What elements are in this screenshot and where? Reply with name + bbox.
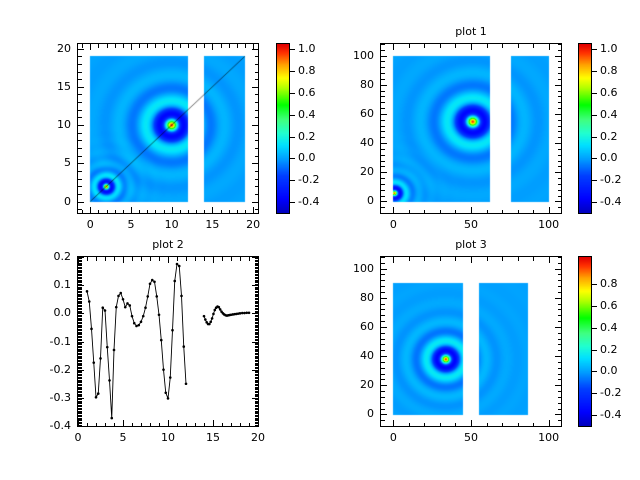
plot3-colorbar-tick <box>592 284 597 285</box>
xtick-minor <box>168 420 169 426</box>
ytick <box>78 56 82 57</box>
xtick-minor-top <box>502 257 503 261</box>
xtick-minor-top <box>159 257 160 261</box>
ytick-right <box>252 87 258 88</box>
plot3-colorbar-tick <box>592 371 597 372</box>
plot3-yticklabel: 20 <box>320 379 374 390</box>
ytick-right <box>252 313 258 314</box>
plot2-xticklabel: 5 <box>98 432 148 443</box>
ytick-right <box>255 301 259 302</box>
ytick-right <box>558 420 562 421</box>
ytick <box>78 382 82 383</box>
plot1-colorbar-ticklabel: 0.6 <box>600 87 618 98</box>
ytick <box>78 305 82 306</box>
ytick-right <box>255 361 259 362</box>
ytick-right <box>255 392 259 393</box>
ytick <box>78 425 82 426</box>
ytick-right <box>255 258 259 259</box>
ytick-right <box>255 267 259 268</box>
plot2-xticklabel: 10 <box>143 432 193 443</box>
plot2-marker <box>142 315 145 318</box>
ytick <box>78 140 82 141</box>
ytick-right <box>255 416 259 417</box>
ytick <box>78 344 82 345</box>
ytick-right <box>252 257 258 258</box>
ytick <box>78 280 82 281</box>
ytick <box>381 286 385 287</box>
xtick-minor <box>249 423 250 427</box>
xtick-minor <box>204 210 205 214</box>
ytick <box>381 149 385 150</box>
plot1-xticklabel: 0 <box>368 219 418 230</box>
ytick-right <box>255 280 259 281</box>
xtick-minor <box>164 210 165 214</box>
ytick-right <box>255 322 259 323</box>
plot1-colorbar-tick <box>592 202 597 203</box>
plot1-yticklabel: 20 <box>320 166 374 177</box>
plot2-yticklabel: 0.0 <box>17 307 71 318</box>
xtick-minor <box>195 423 196 427</box>
ytick-right <box>255 94 259 95</box>
ytick-right <box>558 292 562 293</box>
ytick-right <box>255 354 259 355</box>
plot2-marker <box>86 290 89 293</box>
ytick <box>381 91 385 92</box>
ytick <box>78 385 82 386</box>
ytick <box>381 356 387 357</box>
ytick-right <box>255 179 259 180</box>
xtick-minor <box>409 423 410 427</box>
plot3-colorbar-ticklabel: 0.4 <box>600 322 618 333</box>
plot3-colorbar-tick <box>592 415 597 416</box>
xtick-minor <box>471 420 472 426</box>
ytick <box>381 50 385 51</box>
ytick-right <box>252 202 258 203</box>
ytick-right <box>255 140 259 141</box>
ytick-right <box>255 289 259 290</box>
ytick <box>78 268 82 269</box>
xtick-minor-top <box>440 44 441 48</box>
ytick <box>78 401 82 402</box>
ytick <box>78 342 84 343</box>
xtick-minor-top <box>213 257 214 263</box>
ytick <box>78 346 82 347</box>
ytick <box>381 201 387 202</box>
xtick-minor-top <box>172 44 173 50</box>
xtick-minor-top <box>240 257 241 261</box>
plot2-marker <box>185 382 188 385</box>
ytick-right <box>255 277 259 278</box>
xtick-minor <box>440 423 441 427</box>
ytick <box>78 303 82 304</box>
ytick-right <box>255 316 259 317</box>
ytick-right <box>558 257 562 258</box>
plot2-yticklabel: -0.3 <box>17 392 71 403</box>
ytick-right <box>255 302 259 303</box>
ytick-right <box>255 330 259 331</box>
ytick-right <box>255 363 259 364</box>
plot1-xticklabel: 50 <box>446 219 496 230</box>
ytick-right <box>255 102 259 103</box>
ytick-right <box>255 337 259 338</box>
xtick-minor <box>204 423 205 427</box>
plot2-xticklabel: 15 <box>188 432 238 443</box>
xtick-minor-top <box>177 257 178 261</box>
plot1-yticklabel: 0 <box>320 195 374 206</box>
ytick-right <box>255 292 259 293</box>
ytick-right <box>558 333 562 334</box>
ytick <box>381 143 387 144</box>
plot2-marker <box>151 279 154 282</box>
plot0-colorbar-tick <box>290 158 295 159</box>
ytick-right <box>255 408 259 409</box>
ytick <box>78 281 82 282</box>
xtick-minor-top <box>249 257 250 261</box>
ytick <box>381 79 385 80</box>
ytick-right <box>558 339 562 340</box>
plot0-colorbar-tick <box>290 180 295 181</box>
ytick-right <box>255 347 259 348</box>
xtick-minor-top <box>393 44 394 50</box>
xtick-minor-top <box>424 44 425 48</box>
ytick <box>381 114 387 115</box>
plot2-marker <box>209 320 212 323</box>
ytick <box>78 356 82 357</box>
ytick <box>381 374 385 375</box>
xtick-minor-top <box>471 44 472 50</box>
ytick-right <box>255 381 259 382</box>
ytick-right <box>558 131 562 132</box>
plot1-colorbar-ticklabel: 0.8 <box>600 65 618 76</box>
ytick-right <box>255 380 259 381</box>
ytick <box>78 308 82 309</box>
ytick-right <box>255 329 259 330</box>
ytick-right <box>255 406 259 407</box>
ytick <box>78 302 82 303</box>
ytick <box>78 349 82 350</box>
plot1-colorbar-tick <box>592 115 597 116</box>
ytick-right <box>558 213 562 214</box>
plot3-colorbar-tick <box>592 393 597 394</box>
ytick-right <box>252 342 258 343</box>
ytick-right <box>558 391 562 392</box>
ytick <box>78 426 84 427</box>
ytick-right <box>255 364 259 365</box>
xtick-minor-top <box>132 257 133 261</box>
plot0-colorbar-tick <box>290 202 295 203</box>
ytick-right <box>558 315 562 316</box>
xtick-minor <box>502 210 503 214</box>
ytick-right <box>558 184 562 185</box>
ytick-right <box>255 148 259 149</box>
ytick-right <box>255 385 259 386</box>
xtick-minor-top <box>258 257 259 263</box>
ytick <box>78 148 82 149</box>
xtick-minor-top <box>164 44 165 48</box>
ytick-right <box>252 49 258 50</box>
ytick <box>381 126 385 127</box>
ytick-right <box>555 143 561 144</box>
ytick <box>78 275 82 276</box>
plot1-colorbar-tick <box>592 180 597 181</box>
xtick-minor <box>455 210 456 214</box>
ytick-right <box>555 201 561 202</box>
ytick-right <box>255 272 259 273</box>
plot2-marker <box>140 320 143 323</box>
xtick-minor <box>258 420 259 426</box>
ytick-right <box>255 64 259 65</box>
plot2-marker <box>149 282 152 285</box>
plot2-marker <box>218 306 221 309</box>
ytick <box>78 337 82 338</box>
plot3-yticklabel: 40 <box>320 350 374 361</box>
xtick-minor <box>229 210 230 214</box>
ytick-right <box>255 299 259 300</box>
ytick <box>78 270 82 271</box>
ytick-right <box>255 284 259 285</box>
xtick-minor-top <box>518 44 519 48</box>
ytick-right <box>255 308 259 309</box>
plot2-marker <box>97 392 100 395</box>
ytick-right <box>255 261 259 262</box>
plot2-marker <box>178 265 181 268</box>
ytick-right <box>255 295 259 296</box>
ytick <box>78 418 82 419</box>
ytick <box>381 362 385 363</box>
ytick <box>78 409 82 410</box>
xtick-minor <box>87 423 88 427</box>
ytick <box>78 354 82 355</box>
xtick-minor-top <box>549 44 550 50</box>
plot2-marker <box>122 298 125 301</box>
ytick <box>78 271 82 272</box>
ytick-right <box>558 374 562 375</box>
xtick-minor <box>455 423 456 427</box>
ytick <box>78 333 82 334</box>
ytick <box>78 316 82 317</box>
ytick <box>78 125 84 126</box>
ytick <box>381 207 385 208</box>
ytick <box>381 327 387 328</box>
ytick-right <box>255 377 259 378</box>
ytick <box>381 269 387 270</box>
plot0-yticklabel: 0 <box>17 196 71 207</box>
ytick-right <box>558 403 562 404</box>
plot3-yticklabel: 80 <box>320 292 374 303</box>
ytick <box>78 171 82 172</box>
ytick-right <box>255 411 259 412</box>
xtick-minor-top <box>131 44 132 50</box>
plot0-colorbar-tick <box>290 93 295 94</box>
plot2-marker <box>110 417 113 420</box>
ytick-right <box>558 149 562 150</box>
ytick-right <box>255 420 259 421</box>
plot2-marker <box>167 397 170 400</box>
ytick-right <box>255 309 259 310</box>
ytick <box>78 264 82 265</box>
plot3-yticklabel: 0 <box>320 408 374 419</box>
plot2-marker <box>239 312 242 315</box>
xtick-minor-top <box>393 257 394 263</box>
ytick <box>78 282 82 283</box>
plot0-xticklabel: 20 <box>228 219 278 230</box>
ytick-right <box>255 209 259 210</box>
plot2-marker <box>245 311 248 314</box>
ytick <box>78 315 82 316</box>
ytick-right <box>255 349 259 350</box>
ytick-right <box>255 194 259 195</box>
ytick <box>381 257 385 258</box>
xtick-minor <box>180 210 181 214</box>
ytick <box>78 340 82 341</box>
ytick-right <box>558 73 562 74</box>
ytick-right <box>255 117 259 118</box>
ytick-right <box>255 333 259 334</box>
xtick-minor <box>105 423 106 427</box>
xtick-minor-top <box>188 44 189 48</box>
ytick-right <box>255 384 259 385</box>
plot3-colorbar-tick <box>592 328 597 329</box>
plot1-yticklabel: 100 <box>320 50 374 61</box>
ytick-right <box>255 294 259 295</box>
ytick <box>78 261 82 262</box>
ytick-right <box>555 172 561 173</box>
ytick <box>78 294 82 295</box>
xtick-minor-top <box>518 257 519 261</box>
ytick-right <box>255 391 259 392</box>
plot2-marker <box>95 396 98 399</box>
ytick <box>78 339 82 340</box>
ytick-right <box>558 350 562 351</box>
ytick-right <box>255 270 259 271</box>
plot0-colorbar-tick <box>290 49 295 50</box>
ytick-right <box>255 351 259 352</box>
xtick-minor-top <box>533 257 534 261</box>
ytick <box>381 178 385 179</box>
ytick-right <box>252 370 258 371</box>
ytick-right <box>558 304 562 305</box>
plot2-line-svg <box>78 257 258 426</box>
xtick-minor-top <box>204 257 205 261</box>
plot3-yticklabel: 100 <box>320 263 374 274</box>
xtick-minor-top <box>549 257 550 263</box>
ytick <box>78 311 82 312</box>
ytick-right <box>558 344 562 345</box>
xtick-minor-top <box>150 257 151 261</box>
xtick-minor <box>188 210 189 214</box>
ytick-right <box>255 425 259 426</box>
ytick-right <box>255 306 259 307</box>
ytick <box>78 365 82 366</box>
plot0-colorbar-ticklabel: 0.4 <box>298 109 316 120</box>
ytick <box>78 289 82 290</box>
ytick-right <box>252 285 258 286</box>
ytick-right <box>255 312 259 313</box>
ytick <box>381 196 385 197</box>
ytick-right <box>255 287 259 288</box>
xtick-minor-top <box>409 44 410 48</box>
plot2-marker <box>155 295 158 298</box>
plot1-colorbar <box>578 43 592 214</box>
figure-canvas: 0510152005101520-0.4-0.20.00.20.40.60.81… <box>0 0 640 480</box>
ytick <box>78 367 82 368</box>
ytick <box>78 370 84 371</box>
ytick <box>78 419 82 420</box>
plot3-xticklabel: 100 <box>524 432 574 443</box>
ytick-right <box>555 114 561 115</box>
plot2-marker <box>241 312 244 315</box>
ytick-right <box>255 422 259 423</box>
plot3-yticklabel: 60 <box>320 321 374 332</box>
plot2-yticklabel: -0.2 <box>17 364 71 375</box>
xtick-minor-top <box>98 44 99 48</box>
ytick <box>381 292 385 293</box>
plot1-colorbar-tick <box>592 49 597 50</box>
ytick-right <box>558 263 562 264</box>
ytick-right <box>255 334 259 335</box>
xtick-minor <box>147 210 148 214</box>
ytick <box>78 209 82 210</box>
ytick <box>78 398 84 399</box>
ytick-right <box>558 108 562 109</box>
plot3-title: plot 3 <box>380 239 562 251</box>
ytick-right <box>255 56 259 57</box>
ytick-right <box>558 426 562 427</box>
ytick-right <box>255 419 259 420</box>
ytick-right <box>558 61 562 62</box>
ytick <box>78 327 82 328</box>
ytick-right <box>558 190 562 191</box>
plot1-colorbar-ticklabel: 1.0 <box>600 43 618 54</box>
ytick <box>78 413 82 414</box>
xtick-minor-top <box>139 44 140 48</box>
ytick-right <box>255 396 259 397</box>
ytick <box>78 287 82 288</box>
plot0-colorbar-tick <box>290 115 295 116</box>
ytick <box>78 392 82 393</box>
ytick <box>78 358 82 359</box>
xtick-minor-top <box>229 44 230 48</box>
xtick-minor-top <box>440 257 441 261</box>
ytick-right <box>558 161 562 162</box>
ytick-right <box>255 413 259 414</box>
ytick <box>78 378 82 379</box>
ytick <box>78 299 82 300</box>
ytick <box>78 94 82 95</box>
plot3-colorbar-ticklabel: -0.2 <box>600 387 621 398</box>
plot0-colorbar-tick <box>290 137 295 138</box>
plot0-colorbar-gradient <box>277 44 289 213</box>
ytick <box>381 350 385 351</box>
plot0-colorbar-ticklabel: 0.2 <box>298 131 316 142</box>
ytick <box>78 301 82 302</box>
ytick-right <box>255 72 259 73</box>
ytick <box>381 102 385 103</box>
plot3-colorbar-ticklabel: 0.0 <box>600 365 618 376</box>
xtick-minor-top <box>471 257 472 263</box>
ytick <box>78 402 82 403</box>
ytick-right <box>558 96 562 97</box>
ytick-right <box>558 379 562 380</box>
plot2-yticklabel: 0.1 <box>17 279 71 290</box>
xtick-minor <box>212 207 213 213</box>
ytick <box>78 332 82 333</box>
ytick <box>78 336 82 337</box>
ytick <box>78 278 82 279</box>
ytick <box>78 416 82 417</box>
ytick <box>78 79 82 80</box>
plot2-segment-a-path <box>87 264 186 418</box>
